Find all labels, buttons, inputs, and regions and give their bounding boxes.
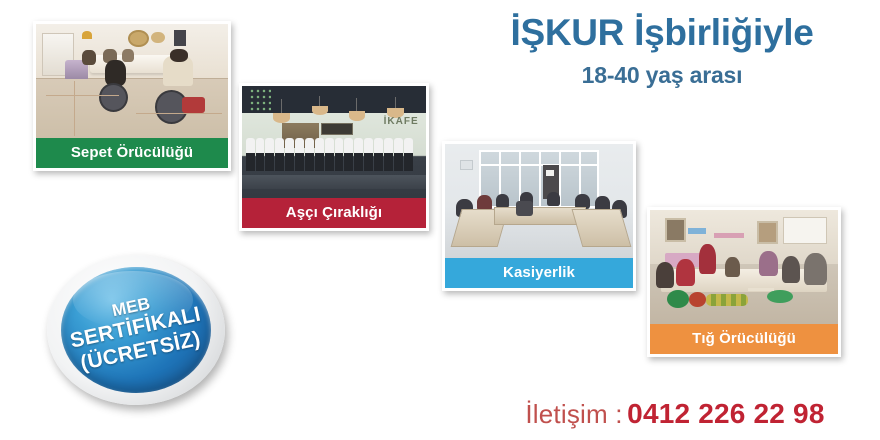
contact-label: İletişim : xyxy=(525,399,622,429)
course-card-sepet[interactable]: Sepet Örücülüğü xyxy=(33,21,231,171)
course-card-kasiyer[interactable]: Kasiyerlik xyxy=(442,141,636,291)
contact-phone-number[interactable]: 0412 226 22 98 xyxy=(627,398,824,429)
headline-block: İŞKUR İşbirliğiyle 18-40 yaş arası xyxy=(452,14,872,89)
photo-frame: İKAFE xyxy=(242,86,426,228)
photo-frame: Sepet Örücülüğü xyxy=(36,24,228,168)
course-card-asci[interactable]: İKAFE xyxy=(239,83,429,231)
page-subtitle: 18-40 yaş arası xyxy=(452,62,872,89)
course-caption-asci: Aşçı Çıraklığı xyxy=(242,198,426,228)
photo-frame: Tığ Örücülüğü xyxy=(650,210,838,354)
course-caption-tig: Tığ Örücülüğü xyxy=(650,324,838,354)
course-card-tig[interactable]: Tığ Örücülüğü xyxy=(647,207,841,357)
contact-line: İletişim : 0412 226 22 98 xyxy=(480,398,870,430)
course-photo-kasiyer xyxy=(445,144,633,258)
course-photo-asci: İKAFE xyxy=(242,86,426,198)
course-caption-sepet: Sepet Örücülüğü xyxy=(36,138,228,168)
poster-canvas: İŞKUR İşbirliğiyle 18-40 yaş arası xyxy=(0,0,880,440)
page-title: İŞKUR İşbirliğiyle xyxy=(452,14,872,53)
course-caption-kasiyer: Kasiyerlik xyxy=(445,258,633,288)
course-photo-sepet xyxy=(36,24,228,138)
photo-frame: Kasiyerlik xyxy=(445,144,633,288)
meb-certificate-badge: MEB SERTİFİKALI (ÜCRETSİZ) xyxy=(47,255,225,405)
course-photo-tig xyxy=(650,210,838,324)
badge-text-group: MEB SERTİFİKALI (ÜCRETSİZ) xyxy=(33,238,238,422)
